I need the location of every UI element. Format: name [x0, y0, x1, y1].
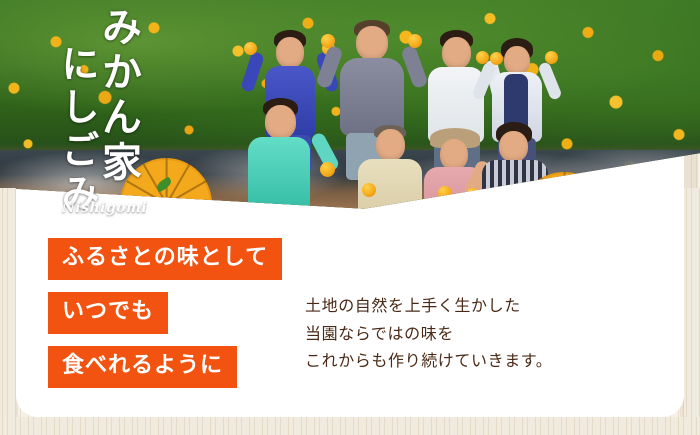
torso — [248, 137, 310, 211]
mikan-fruit — [244, 42, 257, 55]
head — [376, 129, 405, 161]
mikan-fruit — [545, 51, 558, 64]
slogan-bar-2: いつでも — [48, 292, 168, 334]
mikan-fruit — [321, 34, 335, 48]
slogan-bar-1: ふるさとの味として — [48, 238, 282, 280]
mikan-fruit — [362, 183, 376, 197]
promo-banner: みかん家 にしごみ Nishigomi ふるさとの味として いつでも 食べれるよ… — [0, 0, 700, 435]
mikan-fruit — [320, 162, 335, 177]
card-bottom-rounded-edge — [16, 391, 684, 417]
mikan-fruit — [476, 51, 489, 64]
brand-line-1: みかん家 — [98, 6, 138, 216]
slogan-list: ふるさとの味として いつでも 食べれるように — [48, 238, 282, 388]
head — [356, 26, 388, 60]
head — [440, 139, 468, 170]
right-border-rail — [684, 188, 700, 435]
body-copy-line-2: 当園ならではの味を — [305, 320, 552, 348]
body-copy: 土地の自然を上手く生かした 当園ならではの味を これからも作り続けていきます。 — [305, 292, 552, 375]
head — [504, 46, 530, 75]
brand-romaji: Nishigomi — [62, 200, 147, 216]
head — [276, 37, 304, 68]
left-border-rail — [0, 188, 16, 435]
head — [499, 131, 528, 162]
bottom-border-rail — [0, 417, 700, 435]
brand-vertical-title: みかん家 にしごみ — [58, 6, 138, 216]
body-copy-line-3: これからも作り続けていきます。 — [305, 347, 552, 375]
body-copy-line-1: 土地の自然を上手く生かした — [305, 292, 552, 320]
head — [265, 105, 296, 139]
brand-line-2: にしごみ — [58, 44, 96, 216]
head — [442, 37, 471, 69]
arm — [240, 51, 265, 93]
slogan-bar-3: 食べれるように — [48, 346, 237, 388]
